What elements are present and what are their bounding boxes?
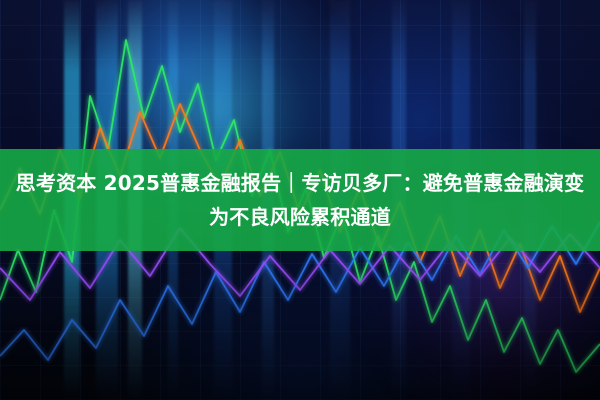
cover-image: 思考资本 2025普惠金融报告｜专访贝多厂：避免普惠金融演变为不良风险累积通道 [0,0,600,400]
headline-text: 思考资本 2025普惠金融报告｜专访贝多厂：避免普惠金融演变为不良风险累积通道 [2,166,598,234]
headline-band: 思考资本 2025普惠金融报告｜专访贝多厂：避免普惠金融演变为不良风险累积通道 [0,149,600,251]
bottom-vignette [0,250,600,400]
